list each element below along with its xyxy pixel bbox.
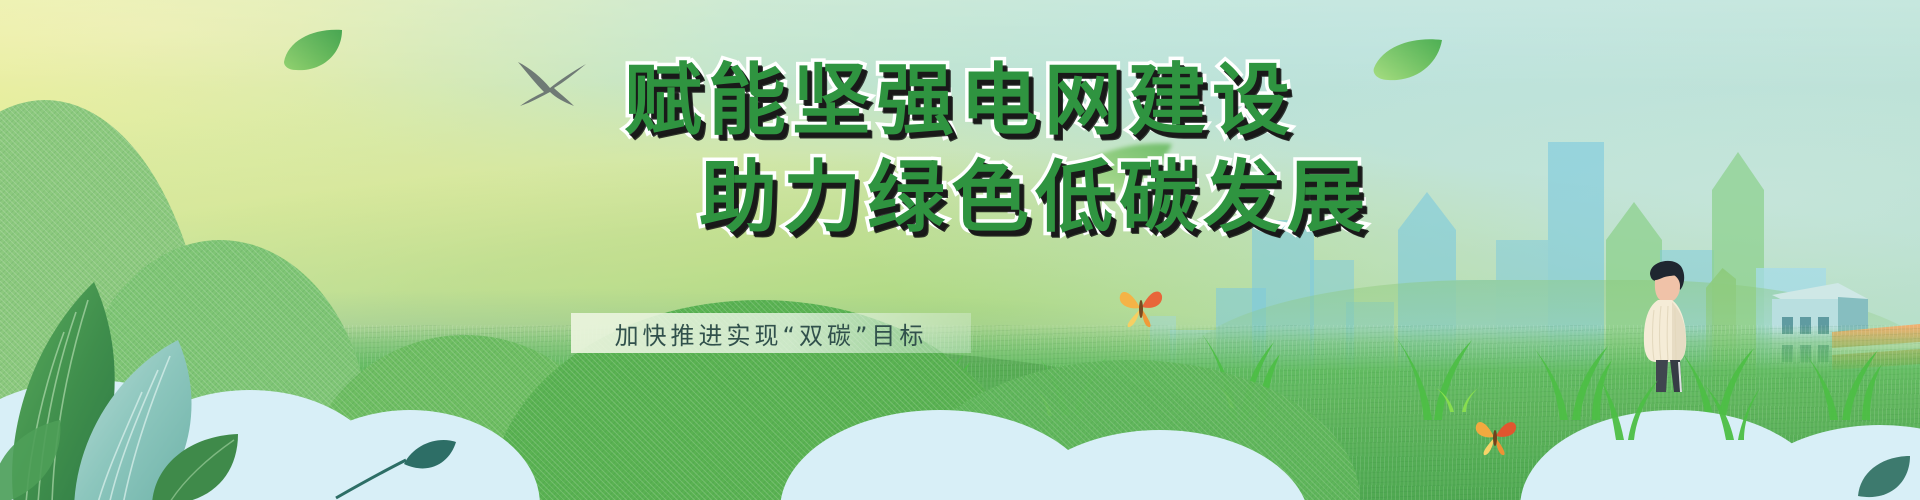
grass-blades-front-person — [1600, 340, 1760, 440]
butterfly-1-wing-upper-right — [1142, 291, 1162, 307]
banner-root: 赋能坚强电网建设 助力绿色低碳发展 加快推进实现“双碳”目标 — [0, 0, 1920, 500]
top-haze — [0, 0, 1920, 90]
butterfly-icon-2 — [1474, 418, 1518, 456]
swallow-icon — [516, 62, 588, 108]
butterfly-1-wing-lower-right — [1142, 309, 1151, 327]
floating-leaf-blurred — [1056, 140, 1176, 202]
butterfly-2-wing-upper-left — [1476, 422, 1494, 437]
butterfly-1-body — [1139, 300, 1143, 318]
butterfly-2-wing-upper-right — [1496, 422, 1516, 437]
teal-stem-leaf — [330, 418, 460, 500]
butterfly-1-wing-lower-left — [1128, 309, 1140, 327]
big-leaf-left-lower — [0, 420, 80, 500]
teal-leaf-right — [1848, 452, 1920, 500]
teal-stem — [336, 460, 406, 498]
butterfly-2-wing-lower-right — [1496, 438, 1505, 455]
butterfly-1-wing-upper-left — [1120, 292, 1140, 308]
butterfly-2-wing-lower-left — [1484, 438, 1494, 455]
big-leaf-small-green-shape — [152, 434, 238, 500]
butterfly-2-body — [1493, 430, 1497, 446]
teal-leaf-shape — [404, 440, 456, 468]
subtitle-text: 加快推进实现“双碳”目标 — [571, 313, 971, 353]
big-leaf-small-green — [150, 430, 245, 500]
butterfly-icon-1 — [1118, 288, 1164, 328]
swallow-shape — [518, 62, 586, 106]
